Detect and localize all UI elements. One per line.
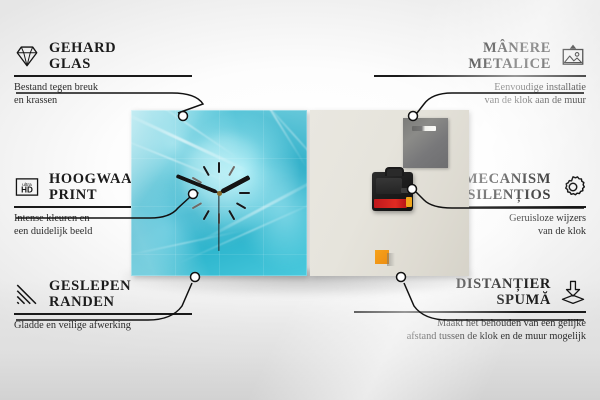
feature-header: MÂNERE METALICE bbox=[374, 40, 586, 72]
feature-title: GESLEPEN RANDEN bbox=[49, 278, 131, 310]
mechanism-detail bbox=[376, 178, 402, 194]
feature-title: MÂNERE METALICE bbox=[468, 40, 551, 72]
feature-divider bbox=[354, 311, 586, 312]
foam-spacer-square bbox=[375, 250, 389, 264]
feature-gehard-glas: GEHARD GLAS Bestand tegen breuk en krass… bbox=[14, 40, 264, 108]
clock-face bbox=[131, 110, 307, 276]
ultra-hd-badge-icon: ultra HD bbox=[14, 174, 40, 200]
feature-manere-metalice: MÂNERE METALICE Eenvoudige installatie v… bbox=[374, 40, 586, 108]
feature-header: GEHARD GLAS bbox=[14, 40, 264, 72]
mechanism-red-label bbox=[374, 199, 407, 208]
metal-hanger-plate bbox=[403, 118, 448, 168]
gear-icon bbox=[560, 174, 586, 200]
clock-mechanism-box bbox=[372, 172, 413, 211]
svg-text:HD: HD bbox=[21, 186, 33, 195]
feature-divider bbox=[14, 313, 192, 314]
feature-title: GEHARD GLAS bbox=[49, 40, 116, 72]
feature-title: MECANISM SILENȚIOS bbox=[464, 171, 551, 203]
product-photo bbox=[131, 110, 469, 276]
clock-back-panel bbox=[310, 110, 469, 276]
feature-subtitle: Gladde en veilige afwerking bbox=[14, 319, 264, 332]
down-arrow-layers-icon bbox=[560, 279, 586, 305]
feature-divider bbox=[14, 75, 192, 76]
feature-subtitle: Maakt het behouden van een gelijke afsta… bbox=[354, 317, 586, 344]
mechanism-detail bbox=[401, 188, 409, 193]
picture-frame-hanger-icon bbox=[560, 43, 586, 69]
diagonal-lines-icon bbox=[14, 281, 40, 307]
feature-subtitle: Bestand tegen breuk en krassen bbox=[14, 81, 264, 108]
feature-subtitle: Eenvoudige installatie van de klok aan d… bbox=[374, 81, 586, 108]
battery-indicator bbox=[406, 197, 412, 207]
clock-front-glass-panel bbox=[131, 110, 307, 276]
diamond-icon bbox=[14, 43, 40, 69]
feature-divider bbox=[374, 75, 586, 76]
hand-center-cap bbox=[217, 191, 222, 196]
mechanism-handle bbox=[385, 167, 404, 176]
